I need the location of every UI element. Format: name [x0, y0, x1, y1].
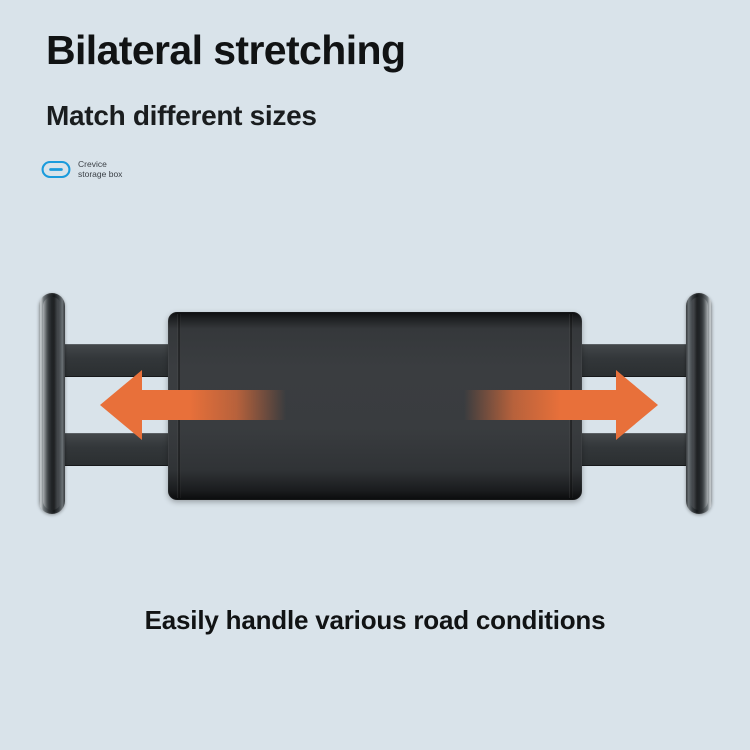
- stretch-arrow-left-tail: [168, 390, 286, 420]
- crevice-storage-badge: Crevice storage box: [41, 159, 122, 180]
- page-title: Bilateral stretching: [46, 29, 405, 72]
- product-feature-banner: Bilateral stretching Match different siz…: [0, 0, 750, 750]
- stretch-arrow-right: [578, 368, 660, 442]
- page-subtitle: Match different sizes: [46, 101, 317, 132]
- crevice-storage-badge-label: Crevice storage box: [78, 159, 122, 180]
- badge-label-line2: storage box: [78, 169, 122, 179]
- stretch-arrow-left: [98, 368, 180, 442]
- left-end-cap: [39, 293, 65, 514]
- right-end-cap: [686, 293, 712, 514]
- product-illustration: [0, 262, 750, 542]
- crevice-slot-icon: [41, 160, 71, 179]
- stretch-arrow-right-tail: [464, 390, 582, 420]
- badge-label-line1: Crevice: [78, 159, 107, 169]
- bottom-caption: Easily handle various road conditions: [0, 605, 750, 636]
